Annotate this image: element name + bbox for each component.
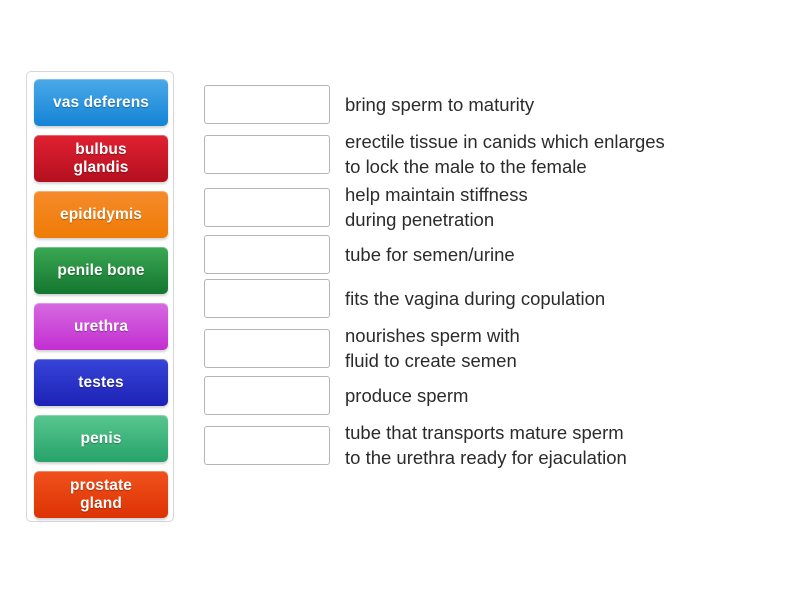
answer-dropzone[interactable]: [204, 235, 330, 274]
draggable-tile[interactable]: testes: [34, 359, 168, 406]
answer-description: tube that transports mature sperm to the…: [345, 420, 784, 470]
tile-label: urethra: [70, 318, 132, 336]
draggable-terms-panel: vas deferensbulbus glandisepididymispeni…: [26, 71, 174, 522]
answer-row: erectile tissue in canids which enlarges…: [204, 129, 784, 179]
answer-description: help maintain stiffness during penetrati…: [345, 182, 784, 232]
answer-description: nourishes sperm with fluid to create sem…: [345, 323, 784, 373]
draggable-tile[interactable]: epididymis: [34, 191, 168, 238]
answer-dropzone[interactable]: [204, 376, 330, 415]
tile-label: prostate gland: [66, 477, 136, 513]
draggable-tile[interactable]: penile bone: [34, 247, 168, 294]
tile-label: vas deferens: [49, 94, 153, 112]
answer-row: tube for semen/urine: [204, 235, 784, 274]
answer-dropzone[interactable]: [204, 135, 330, 174]
answer-dropzone[interactable]: [204, 85, 330, 124]
answer-row: help maintain stiffness during penetrati…: [204, 182, 784, 232]
answer-description: fits the vagina during copulation: [345, 286, 784, 311]
answer-row: fits the vagina during copulation: [204, 279, 784, 318]
tile-label: testes: [74, 374, 127, 392]
answer-row: produce sperm: [204, 376, 784, 415]
answer-description: produce sperm: [345, 383, 784, 408]
answer-dropzone[interactable]: [204, 426, 330, 465]
draggable-tile[interactable]: vas deferens: [34, 79, 168, 126]
tile-label: penis: [77, 430, 126, 448]
answer-row: tube that transports mature sperm to the…: [204, 420, 784, 470]
answer-row: bring sperm to maturity: [204, 85, 784, 124]
answer-dropzone[interactable]: [204, 279, 330, 318]
answer-rows-list: bring sperm to maturityerectile tissue i…: [204, 85, 784, 470]
answer-row: nourishes sperm with fluid to create sem…: [204, 323, 784, 373]
tile-label: penile bone: [53, 262, 148, 280]
draggable-tile[interactable]: bulbus glandis: [34, 135, 168, 182]
answer-dropzone[interactable]: [204, 329, 330, 368]
answer-description: erectile tissue in canids which enlarges…: [345, 129, 784, 179]
answer-description: bring sperm to maturity: [345, 92, 784, 117]
activity-stage: vas deferensbulbus glandisepididymispeni…: [0, 0, 800, 600]
answer-description: tube for semen/urine: [345, 242, 784, 267]
tile-label: bulbus glandis: [70, 141, 133, 177]
tile-label: epididymis: [56, 206, 146, 224]
answer-dropzone[interactable]: [204, 188, 330, 227]
draggable-tile[interactable]: penis: [34, 415, 168, 462]
draggable-tile[interactable]: urethra: [34, 303, 168, 350]
draggable-tile[interactable]: prostate gland: [34, 471, 168, 518]
